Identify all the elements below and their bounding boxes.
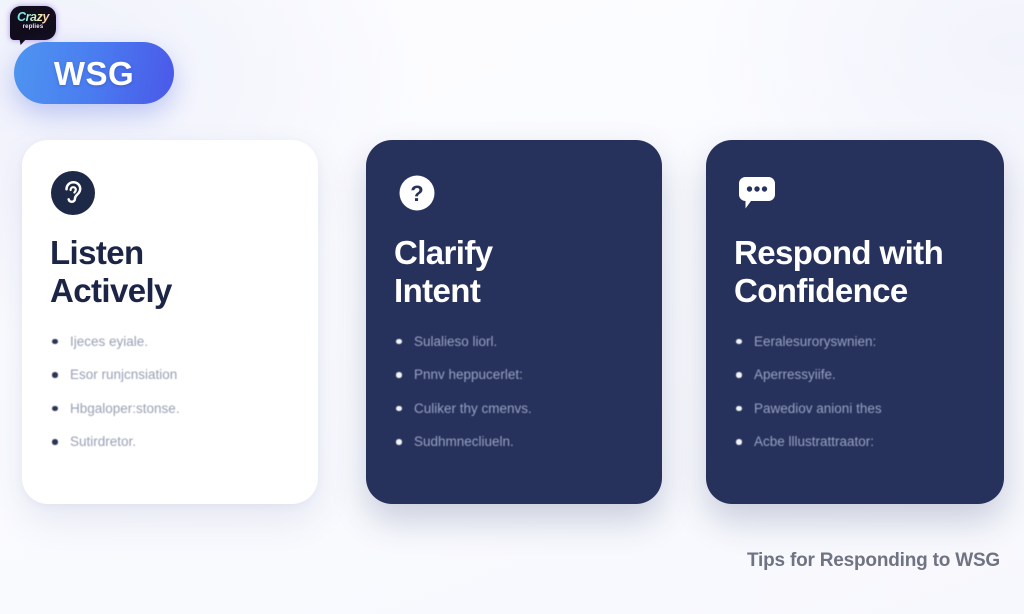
list-item: Sulalieso liorl.	[394, 335, 634, 349]
card-bullet-list: Eeralesuroryswnien: Aperressyiife. Pawed…	[734, 335, 976, 449]
speech-bubble-icon	[734, 170, 780, 216]
card-title-line-2: Intent	[394, 272, 480, 309]
card-bullet-list: Ijeces eyiale. Esor runjcnsiation Hbgalo…	[50, 335, 290, 449]
card-listen-actively[interactable]: Listen Actively Ijeces eyiale. Esor runj…	[22, 140, 318, 504]
card-clarify-intent[interactable]: ? Clarify Intent Sulalieso liorl. Pnnv h…	[366, 140, 662, 504]
list-item: Esor runjcnsiation	[50, 368, 290, 382]
card-title: Listen Actively	[50, 234, 290, 311]
logo-wordmark: Crazy	[10, 11, 56, 24]
question-mark-icon: ?	[394, 170, 440, 216]
slide-canvas: Crazy replies WSG Listen Actively Ijeces…	[0, 0, 1024, 614]
card-title-line-1: Clarify	[394, 234, 493, 271]
list-item: Eeralesuroryswnien:	[734, 335, 976, 349]
list-item: Pnnv heppucerlet:	[394, 368, 634, 382]
ear-icon	[50, 170, 96, 216]
list-item: Sudhmnecliueln.	[394, 435, 634, 449]
list-item: Pawediov anioni thes	[734, 402, 976, 416]
wsg-badge-label: WSG	[54, 57, 134, 90]
card-title-line-1: Listen	[50, 234, 144, 271]
list-item: Hbgaloper:stonse.	[50, 402, 290, 416]
list-item: Sutirdretor.	[50, 435, 290, 449]
card-bullet-list: Sulalieso liorl. Pnnv heppucerlet: Culik…	[394, 335, 634, 449]
list-item: Acbe lllustrattraator:	[734, 435, 976, 449]
svg-text:?: ?	[410, 181, 423, 206]
card-title: Respond with Confidence	[734, 234, 976, 311]
wsg-badge[interactable]: WSG	[14, 42, 174, 104]
crazy-replies-logo: Crazy replies	[10, 6, 56, 40]
list-item: Culiker thy cmenvs.	[394, 402, 634, 416]
logo-subtext: replies	[10, 24, 56, 30]
list-item: Aperressyiife.	[734, 368, 976, 382]
card-respond-with-confidence[interactable]: Respond with Confidence Eeralesuroryswni…	[706, 140, 1004, 504]
card-title-line-2: Confidence	[734, 272, 908, 309]
card-title-line-2: Actively	[50, 272, 172, 309]
card-title-line-1: Respond with	[734, 234, 943, 271]
card-title: Clarify Intent	[394, 234, 634, 311]
footer-caption: Tips for Responding to WSG	[747, 550, 1000, 572]
list-item: Ijeces eyiale.	[50, 335, 290, 349]
